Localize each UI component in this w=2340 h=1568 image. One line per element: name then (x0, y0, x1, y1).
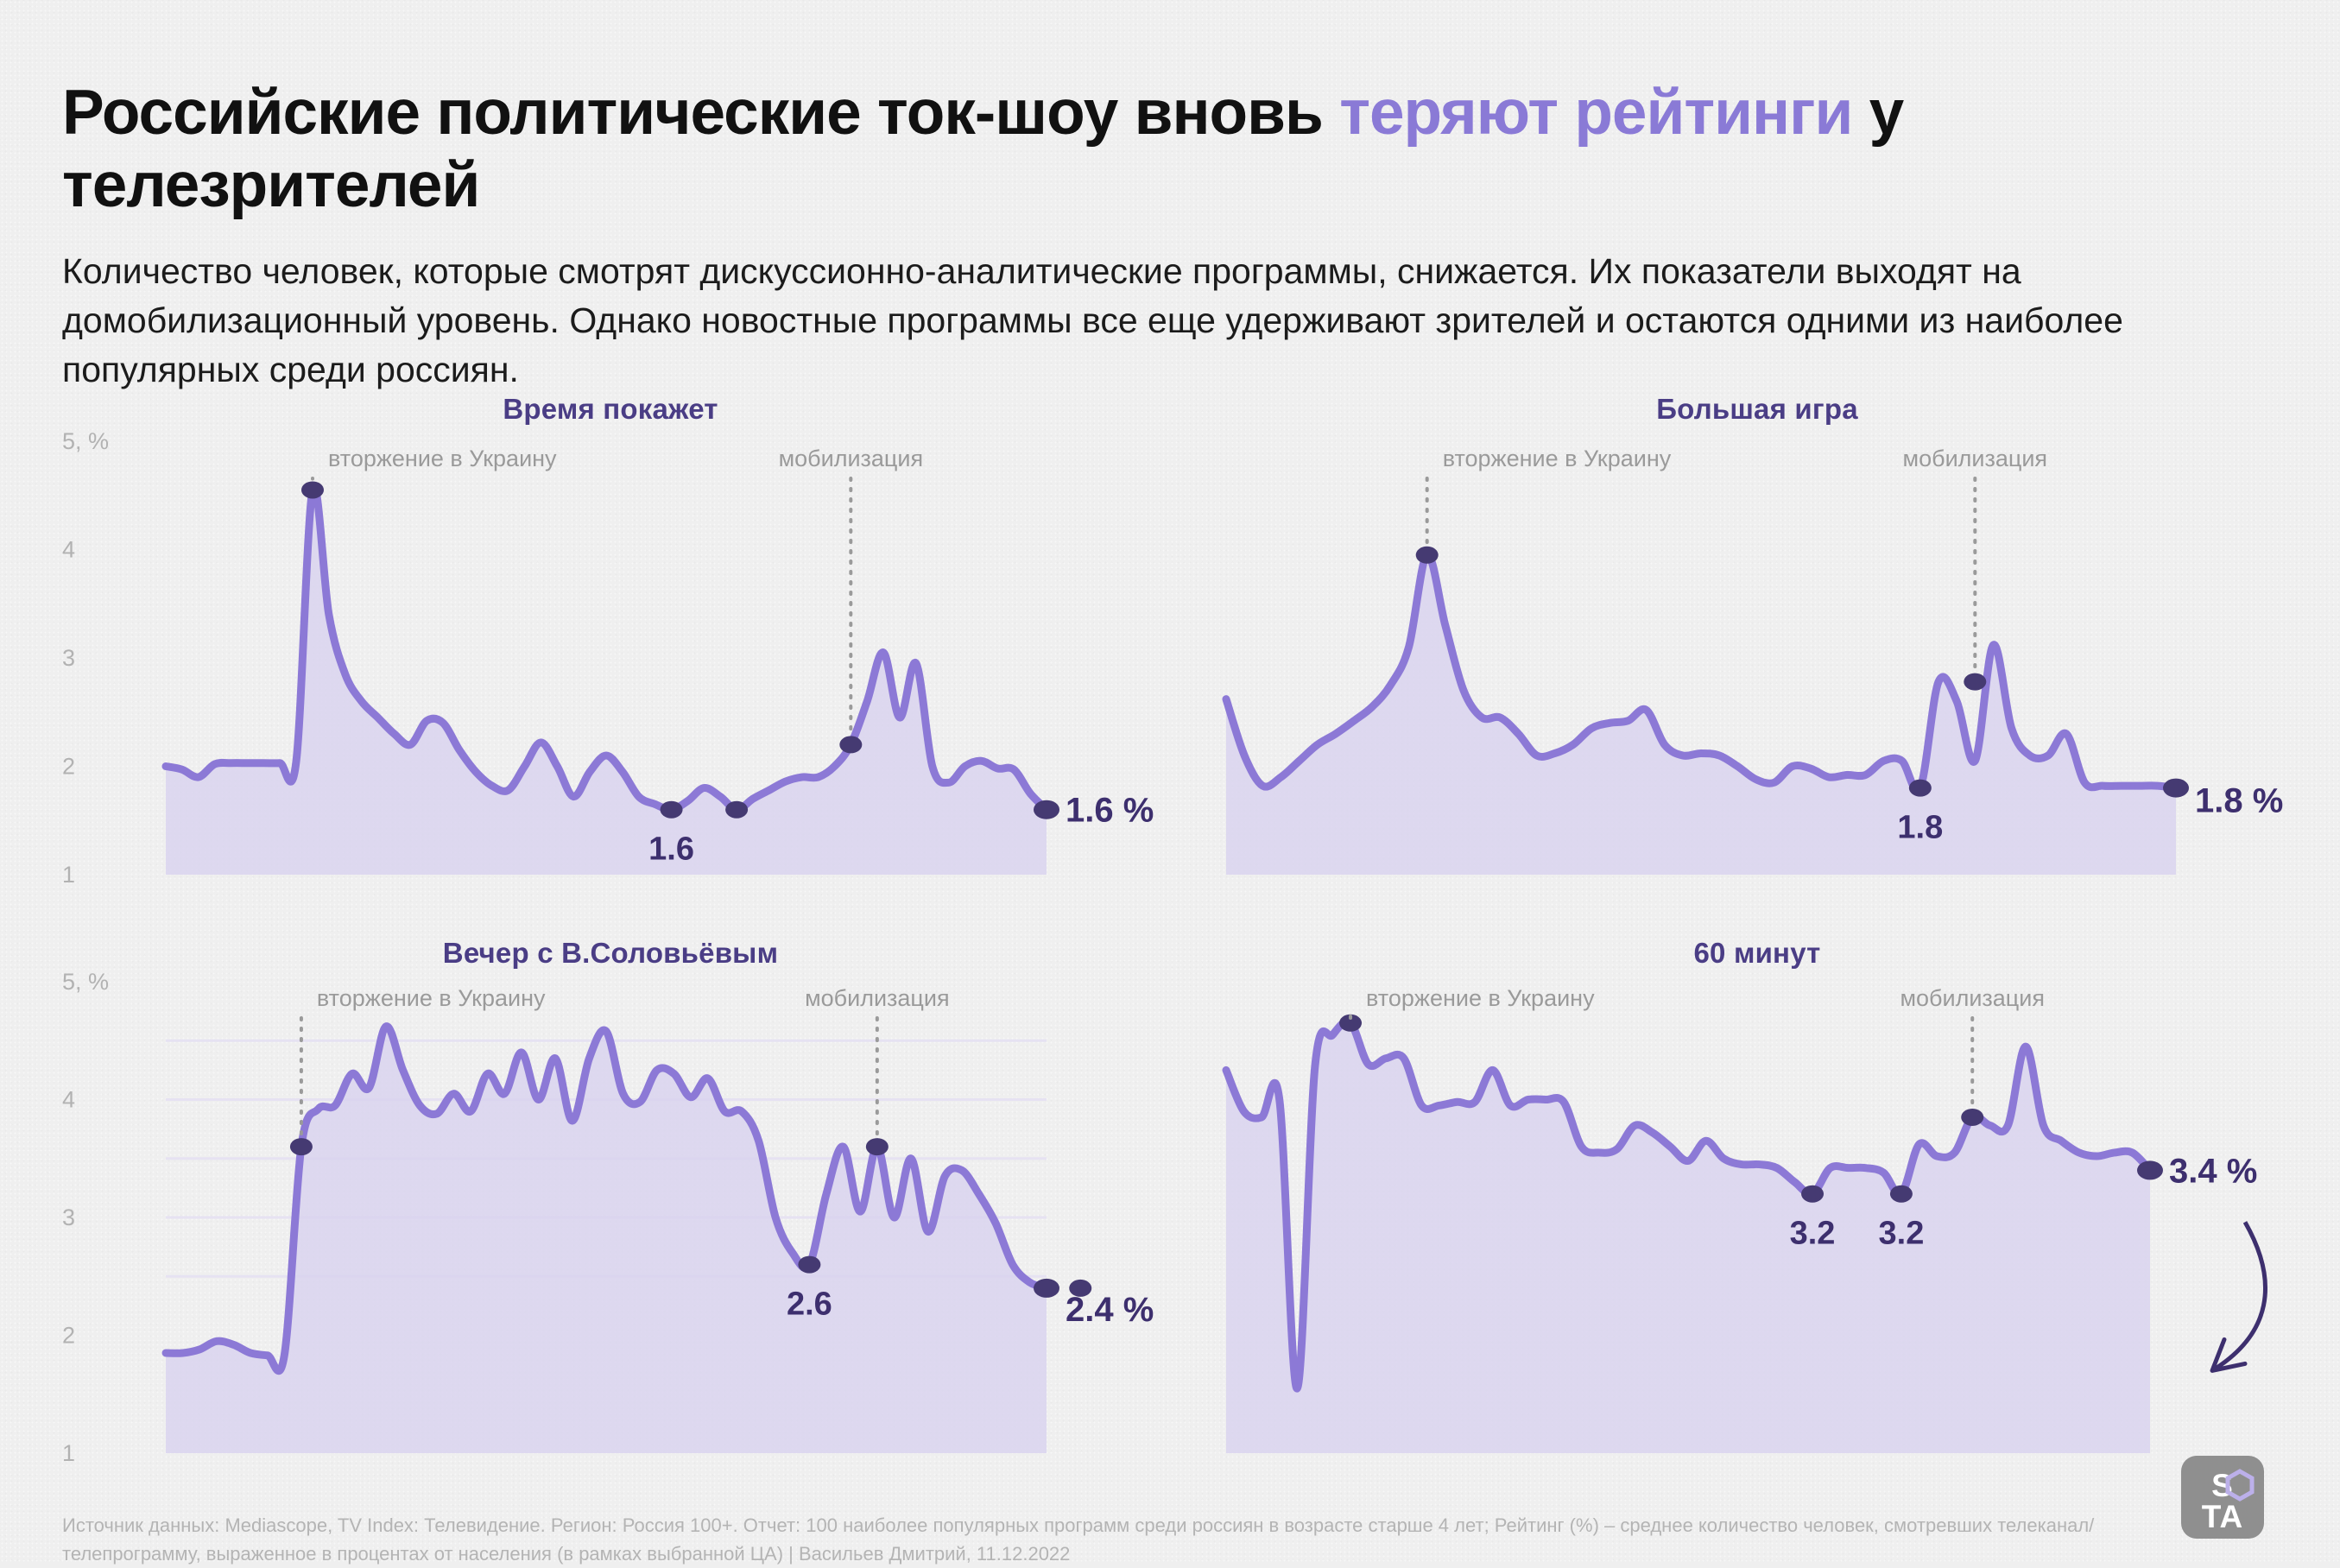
y-axis-tick: 4 (62, 537, 75, 563)
event-annotation-label: мобилизация (779, 446, 924, 471)
page-subtitle: Количество человек, которые смотрят диск… (62, 247, 2195, 395)
data-point-marker (725, 801, 748, 819)
chart-svg-container: 5, %4321вторжение в Украинумобилизация1.… (62, 426, 1159, 909)
data-point-marker (839, 736, 862, 753)
data-point-marker (661, 801, 683, 819)
end-value-label: 2.4 % (1066, 1291, 1154, 1329)
data-point-marker (1416, 547, 1439, 564)
end-point-marker (1034, 1279, 1059, 1298)
data-point-marker (1890, 1185, 1913, 1203)
event-annotation-label: мобилизация (1903, 446, 2048, 471)
end-value-label: 3.4 % (2169, 1152, 2257, 1190)
y-axis-tick: 3 (62, 645, 75, 671)
chart-svg-container: 5, %4321вторжение в Украинумобилизация3.… (1209, 970, 2305, 1488)
end-point-marker (2137, 1160, 2163, 1179)
y-axis-tick: 2 (62, 754, 75, 780)
chart-panel-vremya-pokazhet: Время покажет 5, %4321вторжение в Украин… (62, 393, 1159, 894)
event-annotation-label: вторжение в Украину (317, 985, 546, 1011)
chart-title: Большая игра (1209, 393, 2305, 426)
chart-area-fill (166, 1027, 1047, 1453)
y-axis-tick: 1 (62, 1440, 75, 1466)
y-axis-tick: 1 (62, 862, 75, 888)
chart-panel-vecher-s-solovyovym: Вечер с В.Соловьёвым 5, %4321вторжение в… (62, 937, 1159, 1472)
chart-svg-container: 5, %4321вторжение в Украинумобилизация1.… (1209, 426, 2305, 909)
sota-logo: S TA (2181, 1456, 2264, 1539)
data-point-marker (290, 1138, 313, 1155)
y-axis-tick: 2 (62, 1323, 75, 1349)
chart-title: Вечер с В.Соловьёвым (62, 937, 1159, 970)
chart-panel-60-minut: 60 минут 5, %4321вторжение в Украинумоби… (1209, 937, 2305, 1472)
logo-line2: TA (2181, 1501, 2264, 1533)
end-value-label: 1.6 % (1066, 792, 1154, 830)
end-value-label: 1.8 % (2195, 782, 2283, 820)
y-axis-tick: 5, % (62, 969, 109, 995)
data-point-marker (798, 1256, 820, 1274)
data-point-marker (866, 1138, 889, 1155)
value-annotation-label: 1.8 (1897, 810, 1943, 846)
line-chart: 5, %4321вторжение в Украинумобилизация2.… (62, 970, 1159, 1488)
event-annotation-label: мобилизация (1900, 985, 2045, 1011)
source-note: Источник данных: Mediascope, TV Index: Т… (62, 1511, 2134, 1568)
end-point-marker (1034, 800, 1059, 819)
y-axis-tick: 4 (62, 1087, 75, 1113)
hexagon-icon (2225, 1469, 2255, 1502)
chart-panel-bolshaya-igra: Большая игра 5, %4321вторжение в Украину… (1209, 393, 2305, 894)
value-annotation-label: 2.6 (787, 1287, 832, 1323)
chart-svg-container: 5, %4321вторжение в Украинумобилизация2.… (62, 970, 1159, 1488)
end-point-marker (2163, 779, 2189, 798)
data-point-marker (1964, 673, 1986, 691)
event-annotation-label: вторжение в Украину (328, 446, 557, 471)
y-axis-tick: 5, % (62, 428, 109, 454)
data-point-marker (1961, 1109, 1983, 1126)
data-point-marker (301, 481, 324, 498)
data-point-marker (1909, 780, 1932, 797)
headline-accent: теряют рейтинги (1339, 78, 1852, 148)
value-annotation-label: 1.6 (648, 831, 694, 868)
value-annotation-label: 3.2 (1879, 1216, 1925, 1252)
chart-title: 60 минут (1209, 937, 2305, 970)
line-chart: 5, %4321вторжение в Украинумобилизация1.… (1209, 426, 2305, 909)
page-title: Российские политические ток-шоу вновь те… (62, 77, 2273, 222)
headline-part1: Российские политические ток-шоу вновь (62, 78, 1339, 148)
event-annotation-label: вторжение в Украину (1366, 985, 1595, 1011)
data-point-marker (1801, 1185, 1824, 1203)
infographic-page: Российские политические ток-шоу вновь те… (0, 0, 2340, 1563)
event-annotation-label: мобилизация (805, 985, 950, 1011)
chart-title: Время покажет (62, 393, 1159, 426)
trend-arrow-icon (2212, 1222, 2266, 1370)
value-annotation-label: 3.2 (1790, 1216, 1836, 1252)
y-axis-tick: 3 (62, 1204, 75, 1230)
line-chart: 5, %4321вторжение в Украинумобилизация3.… (1209, 970, 2305, 1488)
line-chart: 5, %4321вторжение в Украинумобилизация1.… (62, 426, 1159, 909)
event-annotation-label: вторжение в Украину (1443, 446, 1672, 471)
chart-area-fill (1226, 1021, 2150, 1453)
